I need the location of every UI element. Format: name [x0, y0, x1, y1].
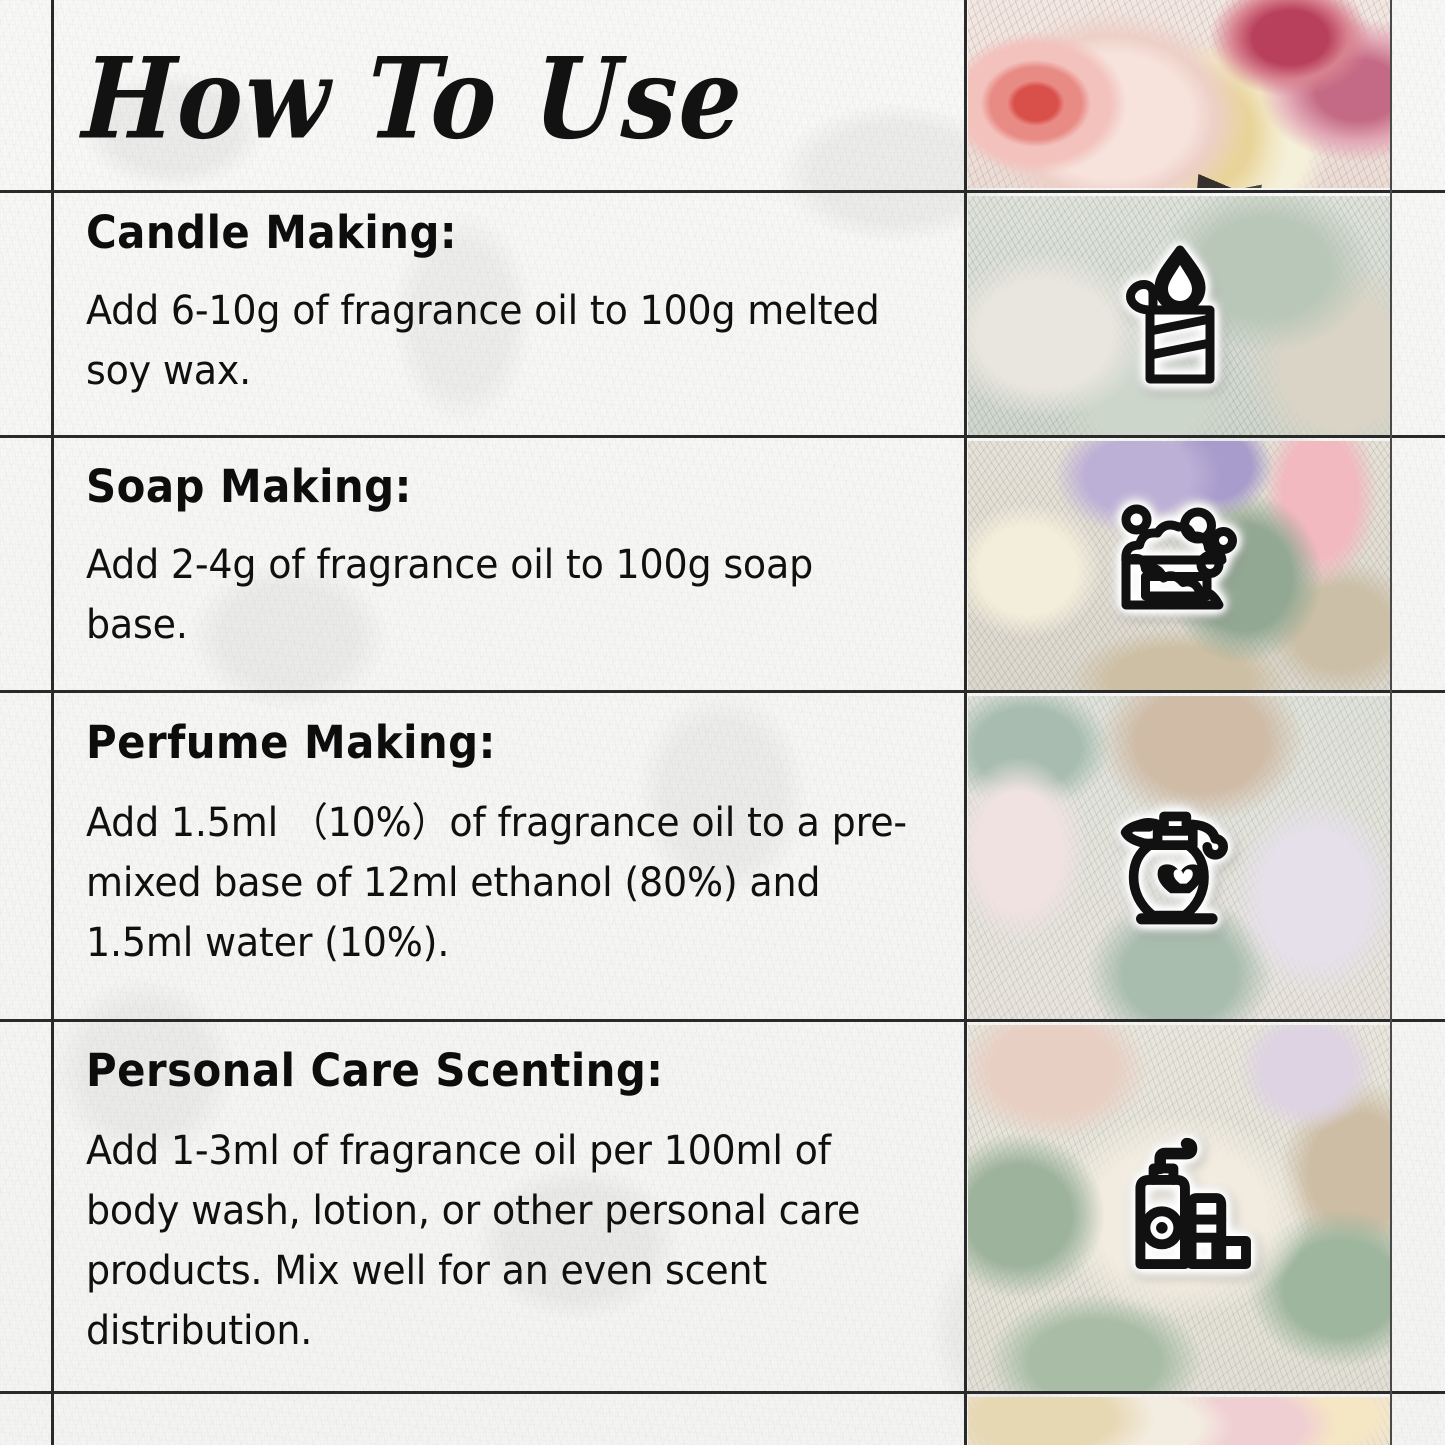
section-perfume-heading: Perfume Making: — [86, 716, 901, 769]
section-perfume: Perfume Making: Add 1.5ml （10%）of fragra… — [53, 716, 962, 973]
section-perfume-body: Add 1.5ml （10%）of fragrance oil to a pre… — [86, 793, 918, 973]
section-soap-body: Add 2-4g of fragrance oil to 100g soap b… — [86, 535, 918, 655]
care-right-margin — [1392, 1025, 1445, 1391]
footer-right-margin — [1392, 1397, 1445, 1445]
candle-photo — [968, 196, 1392, 435]
perfume-bottle-icon — [1100, 778, 1260, 938]
section-candle-body: Add 6-10g of fragrance oil to 100g melte… — [86, 281, 918, 401]
candle-right-margin — [1392, 196, 1445, 435]
section-candle: Candle Making: Add 6-10g of fragrance oi… — [53, 206, 962, 401]
section-personal-care-heading: Personal Care Scenting: — [86, 1044, 901, 1097]
roses-illustration — [968, 0, 1392, 188]
divider-candle-soap — [0, 435, 1445, 438]
perfume-right-margin — [1392, 696, 1445, 1019]
section-soap: Soap Making: Add 2-4g of fragrance oil t… — [53, 460, 962, 655]
section-candle-heading: Candle Making: — [86, 206, 901, 259]
soap-bar-icon — [1105, 491, 1255, 641]
perfume-photo — [968, 696, 1392, 1019]
lotion-bottle-icon — [1098, 1126, 1263, 1291]
left-margin-rule — [51, 0, 54, 1445]
header-right-margin — [1392, 0, 1445, 188]
soap-right-margin — [1392, 441, 1445, 690]
title-row: How To Use — [0, 0, 968, 193]
section-personal-care-body: Add 1-3ml of fragrance oil per 100ml of … — [86, 1121, 918, 1361]
content-image-rule — [964, 0, 967, 1445]
page-title: How To Use — [80, 34, 747, 165]
right-margin-rule — [1390, 0, 1392, 1445]
footer-photo — [968, 1397, 1392, 1445]
how-to-use-infographic: How To Use Candle Making: Add 6-10g of f… — [0, 0, 1445, 1445]
divider-title-candle — [0, 190, 1445, 193]
header-photo — [968, 0, 1392, 188]
divider-perfume-care — [0, 1019, 1445, 1022]
soap-photo — [968, 441, 1392, 690]
care-photo — [968, 1025, 1392, 1391]
divider-care-footer — [0, 1391, 1445, 1394]
open-book-blossoms-illustration — [968, 1397, 1392, 1445]
section-soap-heading: Soap Making: — [86, 460, 901, 513]
divider-soap-perfume — [0, 690, 1445, 693]
section-personal-care: Personal Care Scenting: Add 1-3ml of fra… — [53, 1044, 962, 1361]
candle-icon — [1105, 241, 1255, 391]
